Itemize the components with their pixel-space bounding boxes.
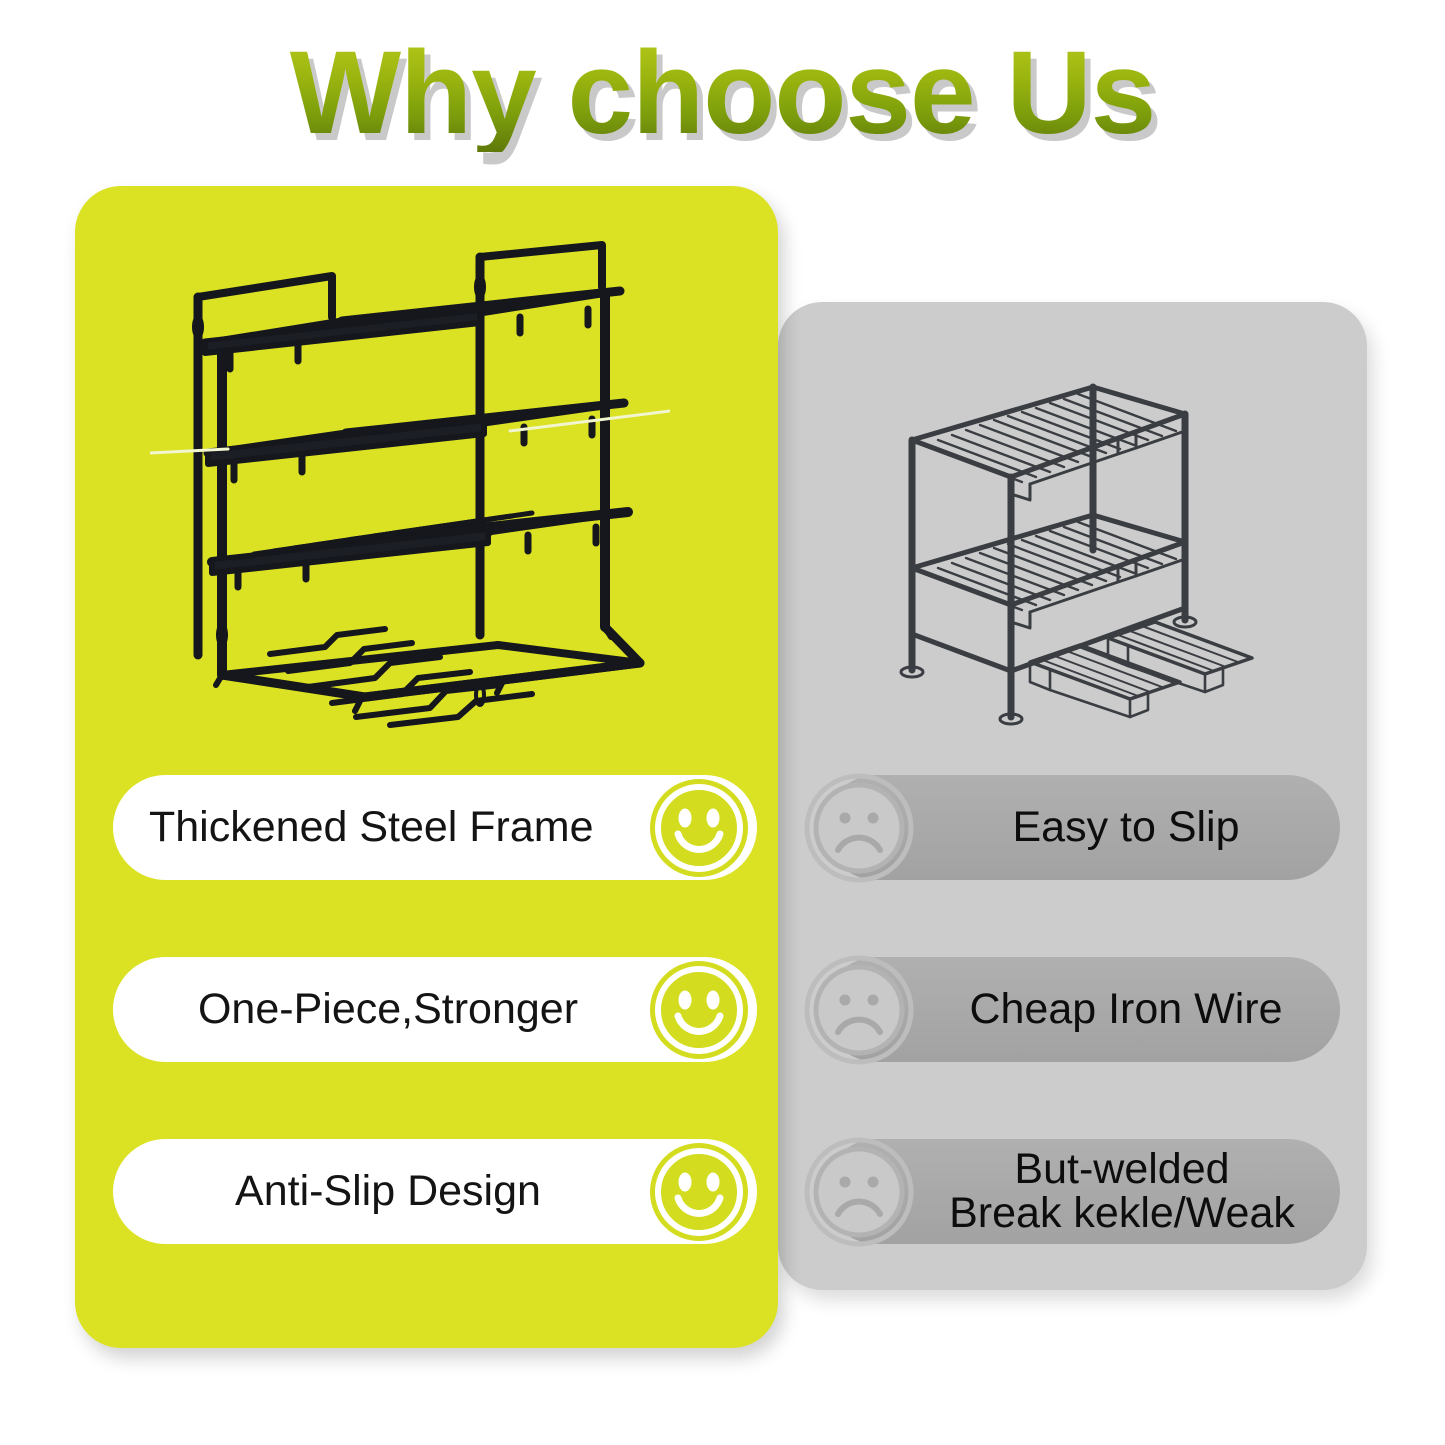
infographic-root: Why choose Us Why choose Us [0, 0, 1445, 1445]
page-title-text: Why choose Us [0, 34, 1445, 152]
smiley-face-icon [647, 958, 751, 1062]
sad-face-icon [804, 955, 914, 1065]
smiley-face-icon [647, 776, 751, 880]
good-feature-pill-2[interactable]: One-Piece,Stronger [113, 957, 757, 1062]
sad-face-icon [804, 773, 914, 883]
page-title: Why choose Us Why choose Us [0, 34, 1445, 152]
good-feature-label-1: Thickened Steel Frame [113, 803, 647, 852]
good-feature-pill-1[interactable]: Thickened Steel Frame [113, 775, 757, 880]
good-product-image [150, 235, 670, 735]
good-feature-label-3: Anti-Slip Design [113, 1167, 647, 1216]
smiley-face-icon [647, 1140, 751, 1244]
good-feature-pill-3[interactable]: Anti-Slip Design [113, 1139, 757, 1244]
good-feature-label-2: One-Piece,Stronger [113, 985, 647, 1034]
bad-feature-pill-2[interactable]: Cheap Iron Wire [824, 957, 1340, 1062]
bad-product-image [880, 372, 1265, 732]
sad-face-icon [804, 1137, 914, 1247]
bad-feature-pill-3[interactable]: But-welded Break kekle/Weak [824, 1139, 1340, 1244]
bad-feature-pill-1[interactable]: Easy to Slip [824, 775, 1340, 880]
